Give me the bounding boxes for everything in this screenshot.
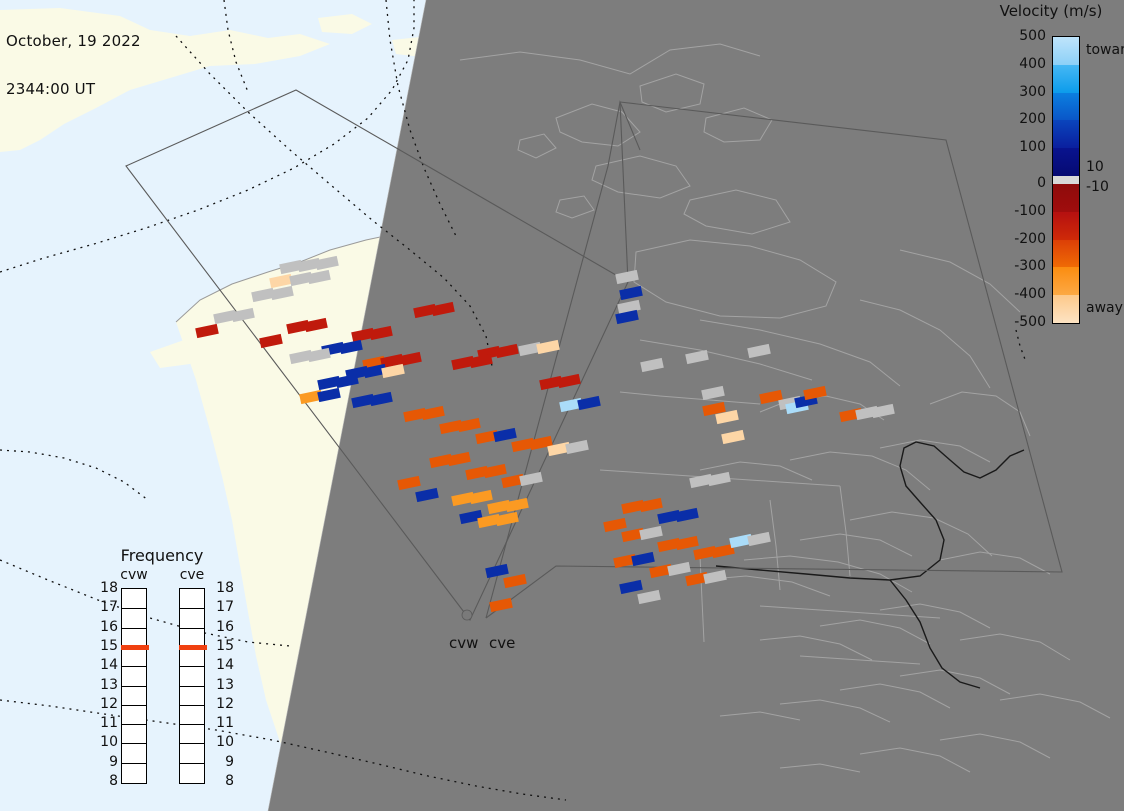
colorbar-band [1053, 65, 1079, 94]
frequency-legend: Frequency cvw cve 18171615141312111098 1… [92, 546, 232, 791]
frequency-scale-label: 11 [92, 715, 118, 731]
frequency-tick-line [122, 608, 146, 609]
frequency-marker [121, 645, 149, 650]
frequency-scale-label: 17 [92, 599, 118, 615]
frequency-tick-line [180, 763, 204, 764]
colorbar-band [1053, 120, 1079, 149]
colorbar-tick: -100 [992, 203, 1046, 219]
frequency-scale-label: 9 [208, 754, 234, 770]
colorbar-tick: -500 [992, 314, 1046, 330]
frequency-tick-line [122, 705, 146, 706]
frequency-scale-label: 10 [92, 734, 118, 750]
frequency-tick-line [180, 608, 204, 609]
site-label-cvw: cvw [449, 634, 478, 652]
frequency-scale-label: 13 [92, 677, 118, 693]
colorbar-tick: -400 [992, 286, 1046, 302]
frequency-scale-label: 18 [92, 580, 118, 596]
frequency-tick-line [122, 686, 146, 687]
frequency-scale-label: 13 [208, 677, 234, 693]
frequency-tick-line [122, 743, 146, 744]
colorbar-tick: 100 [992, 139, 1046, 155]
frequency-marker [179, 645, 207, 650]
frequency-scale-label: 14 [208, 657, 234, 673]
frequency-scale-label: 9 [92, 754, 118, 770]
frequency-tick-line [180, 686, 204, 687]
frequency-column-header-cvw: cvw [114, 567, 154, 583]
frequency-bar-cvw [121, 588, 147, 784]
colorbar-tick: 200 [992, 111, 1046, 127]
colorbar-band [1053, 93, 1079, 122]
frequency-scale-label: 18 [208, 580, 234, 596]
frequency-scale-label: 10 [208, 734, 234, 750]
frequency-scale-label: 12 [208, 696, 234, 712]
frequency-tick-line [180, 743, 204, 744]
frequency-scale-label: 11 [208, 715, 234, 731]
colorbar-tick: 0 [992, 175, 1046, 191]
colorbar-band [1053, 184, 1079, 213]
colorbar-band [1053, 267, 1079, 296]
velocity-colorbar: Velocity (m/s) 5004003002001000-100-200-… [1010, 0, 1124, 340]
frequency-tick-line [122, 724, 146, 725]
colorbar-title: Velocity (m/s) [978, 2, 1124, 20]
frequency-tick-line [180, 666, 204, 667]
frequency-tick-line [122, 628, 146, 629]
frequency-scale-label: 17 [208, 599, 234, 615]
timestamp-time: 2344:00 UT [6, 81, 141, 97]
colorbar-tick: 400 [992, 56, 1046, 72]
frequency-column-header-cve: cve [172, 567, 212, 583]
timestamp-date: October, 19 2022 [6, 33, 141, 49]
timestamp-block: October, 19 2022 2344:00 UT [6, 1, 141, 129]
frequency-tick-line [180, 705, 204, 706]
colorbar-band [1053, 37, 1079, 66]
frequency-tick-line [122, 666, 146, 667]
frequency-scale-label: 15 [208, 638, 234, 654]
frequency-scale-label: 8 [208, 773, 234, 789]
colorbar-toward-label: toward [1086, 42, 1124, 58]
colorbar-tick: -200 [992, 231, 1046, 247]
colorbar-band [1053, 240, 1079, 269]
colorbar-negative-threshold-label: -10 [1086, 179, 1109, 195]
frequency-tick-line [180, 628, 204, 629]
colorbar-band [1053, 176, 1079, 184]
frequency-scale-label: 14 [92, 657, 118, 673]
colorbar-band [1053, 212, 1079, 241]
colorbar-gradient [1052, 36, 1080, 324]
frequency-tick-line [122, 763, 146, 764]
frequency-bar-cve [179, 588, 205, 784]
radar-site-marker [462, 610, 472, 620]
frequency-tick-line [180, 724, 204, 725]
colorbar-positive-threshold-label: 10 [1086, 159, 1104, 175]
colorbar-tick: 300 [992, 84, 1046, 100]
site-label-cve: cve [489, 634, 515, 652]
frequency-legend-title: Frequency [92, 546, 232, 565]
frequency-scale-label: 12 [92, 696, 118, 712]
colorbar-tick: 500 [992, 28, 1046, 44]
frequency-scale-label: 16 [208, 619, 234, 635]
radar-map-view: October, 19 2022 2344:00 UT Velocity (m/… [0, 0, 1124, 811]
colorbar-band [1053, 148, 1079, 177]
frequency-scale-label: 8 [92, 773, 118, 789]
frequency-scale-label: 16 [92, 619, 118, 635]
colorbar-tick: -300 [992, 258, 1046, 274]
frequency-scale-label: 15 [92, 638, 118, 654]
colorbar-band [1053, 295, 1079, 324]
colorbar-away-label: away [1086, 300, 1123, 316]
